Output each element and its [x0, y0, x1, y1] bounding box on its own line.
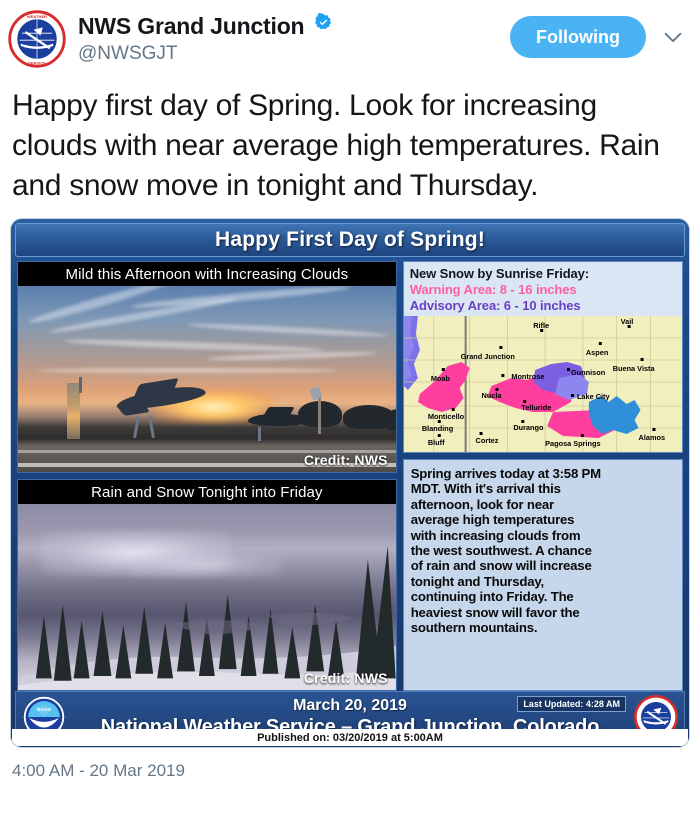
svg-text:Rifle: Rifle	[533, 321, 549, 330]
snow-forecast-title: New Snow by Sunrise Friday:	[410, 266, 676, 282]
photo-caption-tonight: Rain and Snow Tonight into Friday	[18, 480, 396, 504]
discussion-line: of rain and snow will increase	[411, 558, 675, 573]
discussion-line: the west southwest. A chance	[411, 543, 675, 558]
svg-text:Lake City: Lake City	[577, 392, 611, 401]
snow-forecast-panel: New Snow by Sunrise Friday: Warning Area…	[403, 261, 683, 453]
last-updated-badge: Last Updated: 4:28 AM	[517, 696, 626, 712]
svg-text:Aspen: Aspen	[586, 348, 609, 357]
photo-afternoon-image: Credit: NWS	[18, 286, 396, 472]
following-button[interactable]: Following	[510, 16, 646, 58]
svg-text:Alamos: Alamos	[638, 433, 665, 442]
svg-text:Cortez: Cortez	[475, 436, 498, 445]
discussion-line: with increasing clouds from	[411, 528, 675, 543]
photo-caption-afternoon: Mild this Afternoon with Increasing Clou…	[18, 262, 396, 286]
photo-panel-tonight: Rain and Snow Tonight into Friday	[17, 479, 397, 691]
snow-advisory-line: Advisory Area: 6 - 10 inches	[410, 298, 676, 314]
account-name-block: NWS Grand Junction @NWSGJT	[78, 8, 510, 66]
photo-credit-tonight: Credit: NWS	[304, 670, 388, 686]
svg-text:Blanding: Blanding	[422, 424, 453, 433]
photo-tonight-image: Credit: NWS	[18, 504, 396, 690]
graphic-title-bar: Happy First Day of Spring!	[15, 223, 685, 257]
header-actions: Following	[510, 8, 690, 58]
svg-text:Buena Vista: Buena Vista	[612, 364, 655, 373]
graphic-inner: Happy First Day of Spring! Mild this Aft…	[11, 219, 689, 747]
svg-text:Gunnison: Gunnison	[571, 368, 606, 377]
discussion-line: average high temperatures	[411, 512, 675, 527]
verified-badge-icon	[314, 13, 333, 32]
discussion-line: Spring arrives today at 3:58 PM	[411, 466, 675, 481]
svg-text:Nucla: Nucla	[481, 391, 502, 400]
svg-text:Monticello: Monticello	[428, 412, 465, 421]
graphic-title: Happy First Day of Spring!	[215, 228, 485, 252]
svg-text:Vail: Vail	[620, 317, 633, 326]
avatar[interactable]: WEATHER SERVICE	[8, 10, 66, 68]
chevron-down-icon[interactable]	[662, 26, 684, 48]
tweet-media-graphic[interactable]: Happy First Day of Spring! Mild this Aft…	[10, 218, 690, 748]
graphic-body: Mild this Afternoon with Increasing Clou…	[17, 261, 683, 691]
winter-warning-map: Rifle Vail Grand Junction Aspen Buena Vi…	[404, 316, 682, 452]
discussion-line: tonight and Thursday,	[411, 574, 675, 589]
svg-text:Bluff: Bluff	[428, 438, 445, 447]
published-band: Published on: 03/20/2019 at 5:00AM	[12, 729, 688, 746]
svg-text:Moab: Moab	[431, 374, 451, 383]
discussion-line: southern mountains.	[411, 620, 675, 635]
snow-warning-line: Warning Area: 8 - 16 inches	[410, 282, 676, 298]
discussion-line: heaviest snow will favor the	[411, 605, 675, 620]
tweet-text: Happy first day of Spring. Look for incr…	[0, 82, 700, 218]
graphic-left-column: Mild this Afternoon with Increasing Clou…	[17, 261, 397, 691]
discussion-line: afternoon, look for near	[411, 497, 675, 512]
svg-text:Montrose: Montrose	[511, 372, 544, 381]
tweet-timestamp[interactable]: 4:00 AM - 20 Mar 2019	[0, 748, 700, 782]
discussion-line: MDT. With it's arrival this	[411, 481, 675, 496]
svg-text:Pagosa Springs: Pagosa Springs	[545, 439, 600, 448]
svg-text:Telluride: Telluride	[521, 403, 551, 412]
snow-forecast-header: New Snow by Sunrise Friday: Warning Area…	[404, 262, 682, 316]
account-handle[interactable]: @NWSGJT	[78, 42, 510, 66]
svg-text:SERVICE: SERVICE	[28, 61, 46, 66]
photo-panel-afternoon: Mild this Afternoon with Increasing Clou…	[17, 261, 397, 473]
discussion-panel: Spring arrives today at 3:58 PM MDT. Wit…	[403, 459, 683, 691]
svg-text:NOAA: NOAA	[37, 707, 52, 713]
svg-text:Durango: Durango	[513, 423, 544, 432]
discussion-line: continuing into Friday. The	[411, 589, 675, 604]
photo-credit-afternoon: Credit: NWS	[304, 452, 388, 468]
graphic-right-column: New Snow by Sunrise Friday: Warning Area…	[403, 261, 683, 691]
svg-text:WEATHER: WEATHER	[27, 14, 47, 19]
tweet-header: WEATHER SERVICE NWS Grand Junction @NWSG…	[0, 0, 700, 82]
display-name[interactable]: NWS Grand Junction	[78, 12, 304, 40]
svg-text:Grand Junction: Grand Junction	[460, 352, 515, 361]
